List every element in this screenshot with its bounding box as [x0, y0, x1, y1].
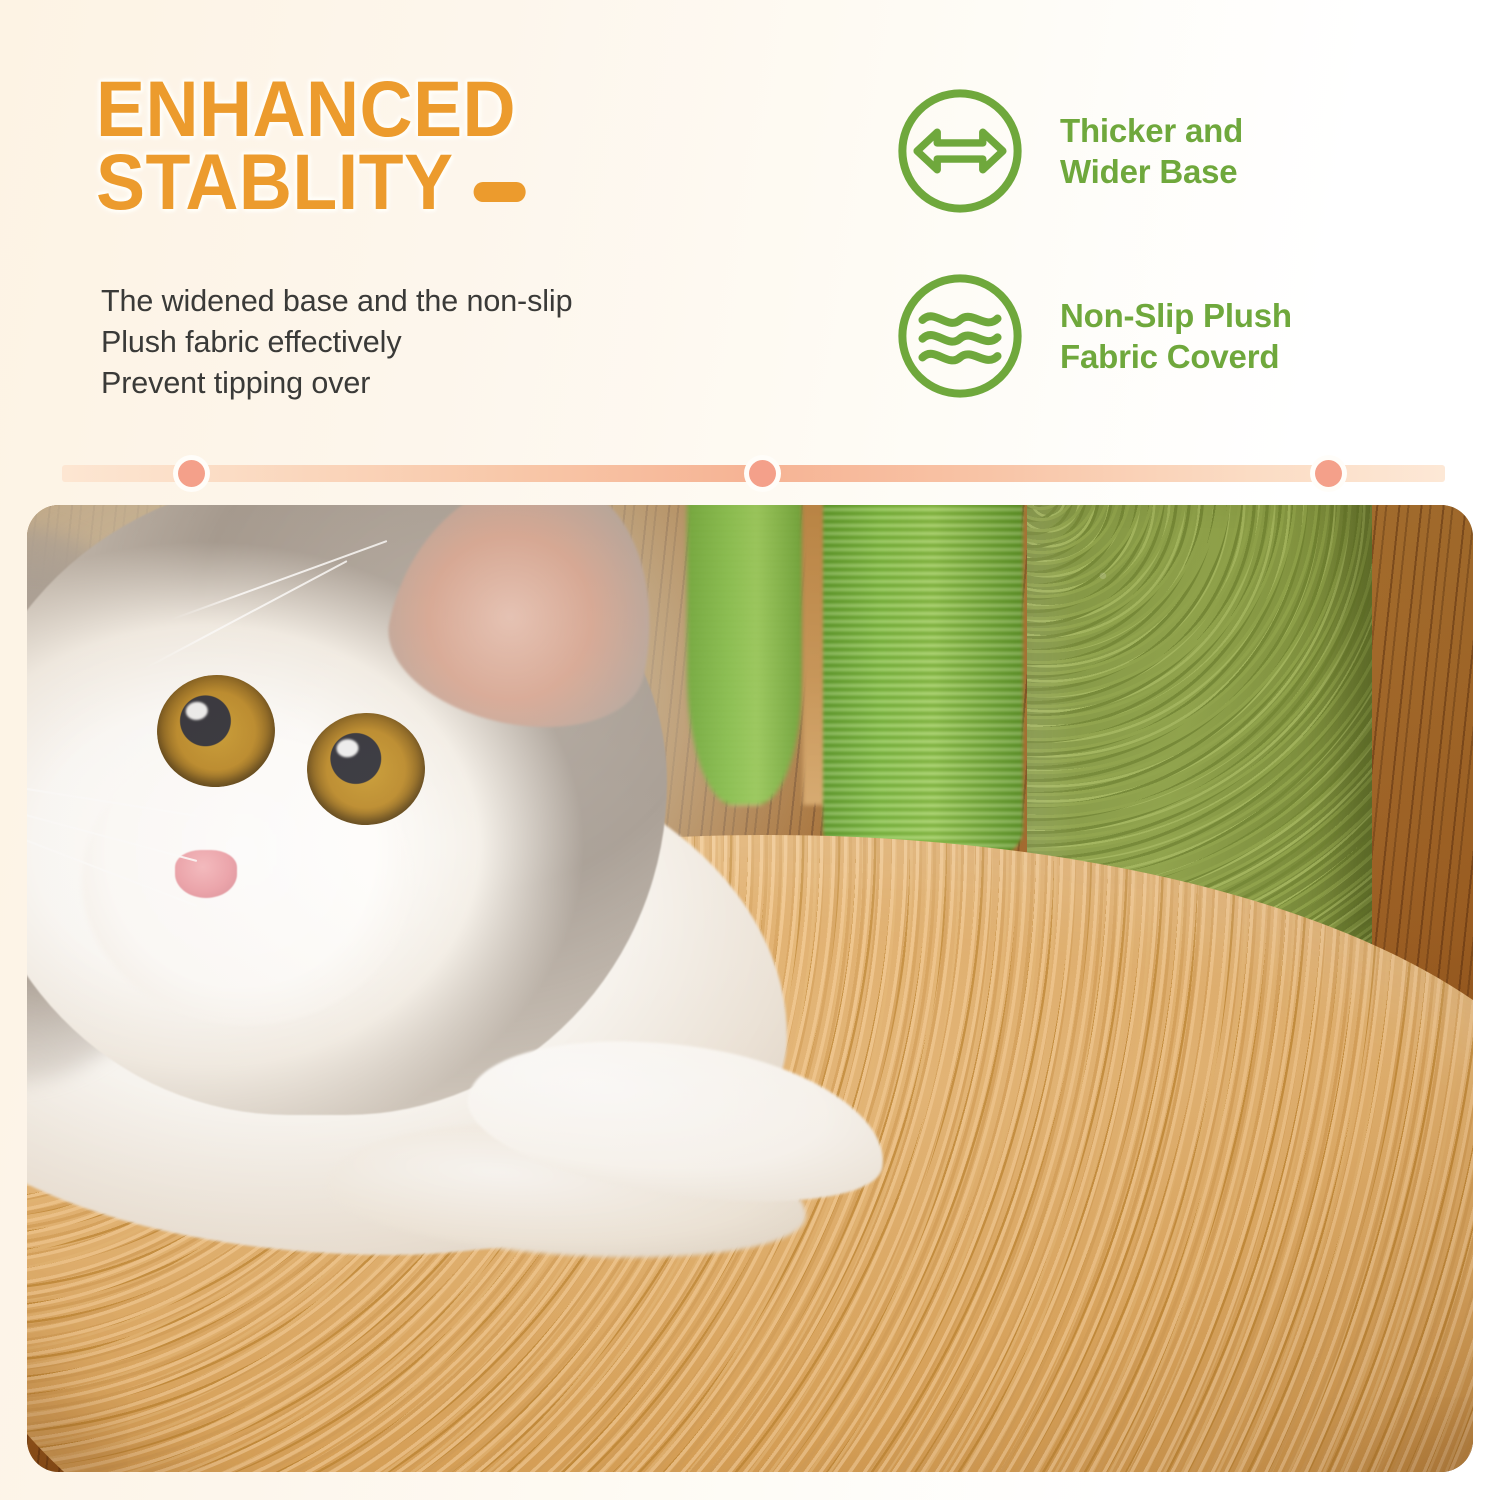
feature-label: Non-Slip Plush Fabric Coverd [1060, 295, 1292, 378]
product-infographic: ENHANCED STABLITY The widened base and t… [0, 0, 1500, 1500]
headline-line-1: ENHANCED [96, 72, 728, 145]
waves-icon [893, 269, 1027, 403]
info-panel: ENHANCED STABLITY The widened base and t… [0, 0, 1500, 460]
divider-dot [1315, 460, 1342, 487]
headline-block: ENHANCED STABLITY [96, 72, 776, 219]
feature-label: Thicker and Wider Base [1060, 110, 1243, 193]
feature-item: Thicker and Wider Base [893, 76, 1292, 226]
section-divider [62, 465, 1445, 482]
feature-list: Thicker and Wider Base Non-Slip Plush Fa… [893, 76, 1292, 411]
headline-line-2: STABLITY [96, 145, 453, 218]
divider-dot [178, 460, 205, 487]
headline-dash-icon [474, 182, 526, 202]
divider-dot [749, 460, 776, 487]
subcopy-text: The widened base and the non-slip Plush … [101, 281, 572, 404]
headline-line-2-row: STABLITY [96, 145, 728, 218]
product-photo [27, 505, 1473, 1472]
horizontal-double-arrow-icon [893, 84, 1027, 218]
feature-item: Non-Slip Plush Fabric Coverd [893, 261, 1292, 411]
kitten [27, 505, 947, 1265]
